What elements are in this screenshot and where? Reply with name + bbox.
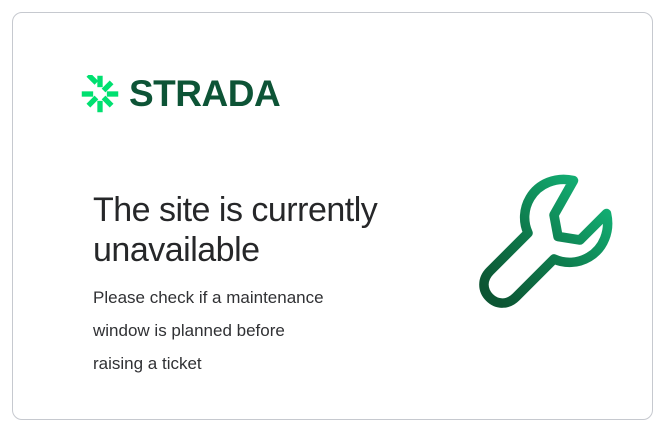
message-body-line: raising a ticket bbox=[93, 347, 423, 380]
brand-lockup: STRADA bbox=[81, 75, 280, 113]
strada-asterisk-icon bbox=[81, 75, 119, 113]
message-body-line: Please check if a maintenance bbox=[93, 281, 423, 314]
page-title: The site is currently unavailable bbox=[93, 190, 443, 270]
message-body-line: window is planned before bbox=[93, 314, 423, 347]
wrench-icon bbox=[468, 168, 624, 320]
status-card: STRADA The site is currently unavailable… bbox=[12, 12, 653, 420]
message-body: Please check if a maintenance window is … bbox=[93, 281, 423, 380]
screen: STRADA The site is currently unavailable… bbox=[0, 0, 666, 436]
brand-name: STRADA bbox=[129, 75, 280, 113]
